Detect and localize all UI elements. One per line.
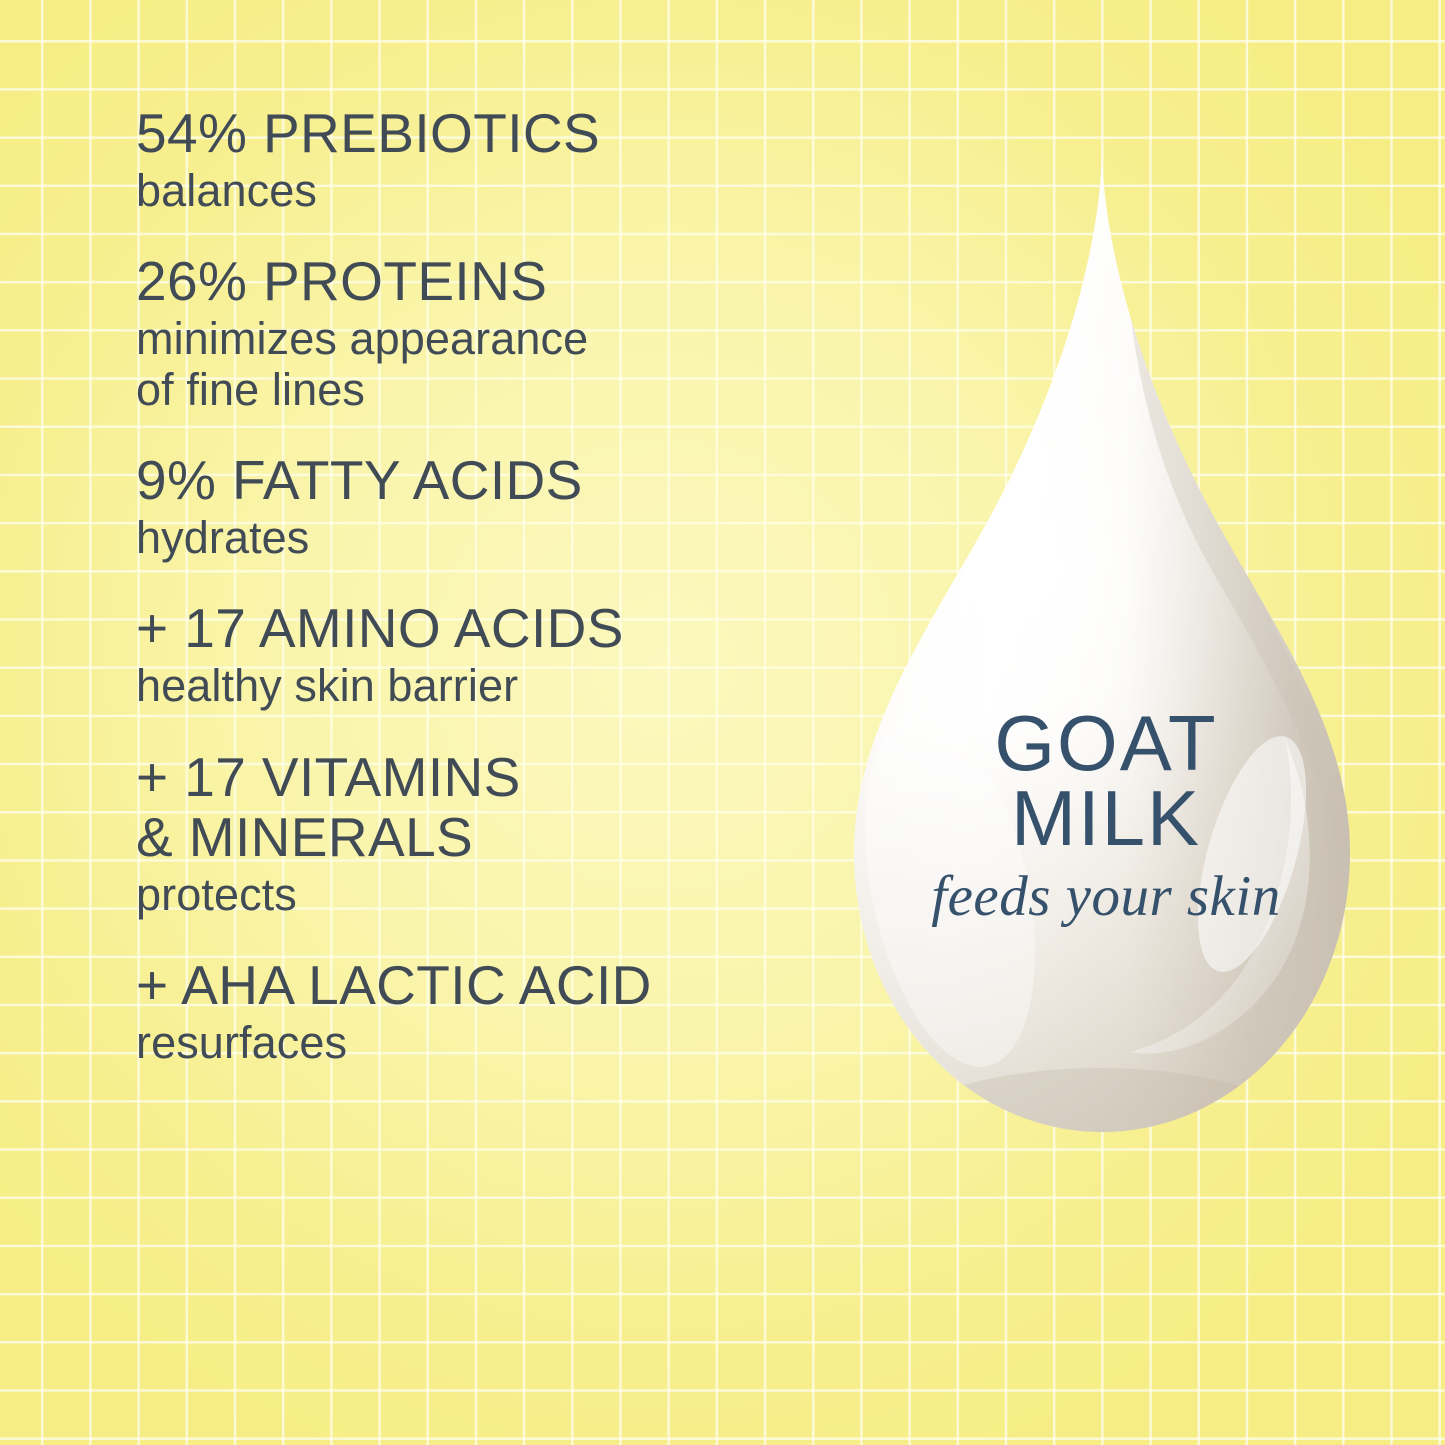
fact-description: minimizes appearance of fine lines bbox=[136, 314, 836, 415]
fact-item: + 17 AMINO ACIDS healthy skin barrier bbox=[136, 599, 836, 711]
fact-title: 9% FATTY ACIDS bbox=[136, 451, 836, 511]
milk-droplet-icon bbox=[800, 130, 1420, 1180]
fact-item: 26% PROTEINS minimizes appearance of fin… bbox=[136, 252, 836, 415]
fact-description: balances bbox=[136, 166, 836, 216]
fact-title: + AHA LACTIC ACID bbox=[136, 956, 836, 1016]
fact-description: resurfaces bbox=[136, 1018, 836, 1068]
droplet-bulb-shading bbox=[800, 130, 1420, 1180]
fact-title: 26% PROTEINS bbox=[136, 252, 836, 312]
droplet-bottom-shade bbox=[890, 1068, 1310, 1180]
fact-item: + AHA LACTIC ACID resurfaces bbox=[136, 956, 836, 1068]
fact-item: + 17 VITAMINS & MINERALS protects bbox=[136, 748, 836, 920]
infographic-canvas: 54% PREBIOTICS balances 26% PROTEINS min… bbox=[0, 0, 1445, 1445]
fact-description: protects bbox=[136, 870, 836, 920]
ingredient-facts-list: 54% PREBIOTICS balances 26% PROTEINS min… bbox=[136, 104, 836, 1068]
fact-title: + 17 AMINO ACIDS bbox=[136, 599, 836, 659]
fact-title: 54% PREBIOTICS bbox=[136, 104, 836, 164]
fact-title: + 17 VITAMINS & MINERALS bbox=[136, 748, 836, 868]
fact-description: hydrates bbox=[136, 513, 836, 563]
milk-droplet-illustration bbox=[800, 130, 1420, 1180]
fact-description: healthy skin barrier bbox=[136, 661, 836, 711]
fact-item: 9% FATTY ACIDS hydrates bbox=[136, 451, 836, 563]
fact-item: 54% PREBIOTICS balances bbox=[136, 104, 836, 216]
